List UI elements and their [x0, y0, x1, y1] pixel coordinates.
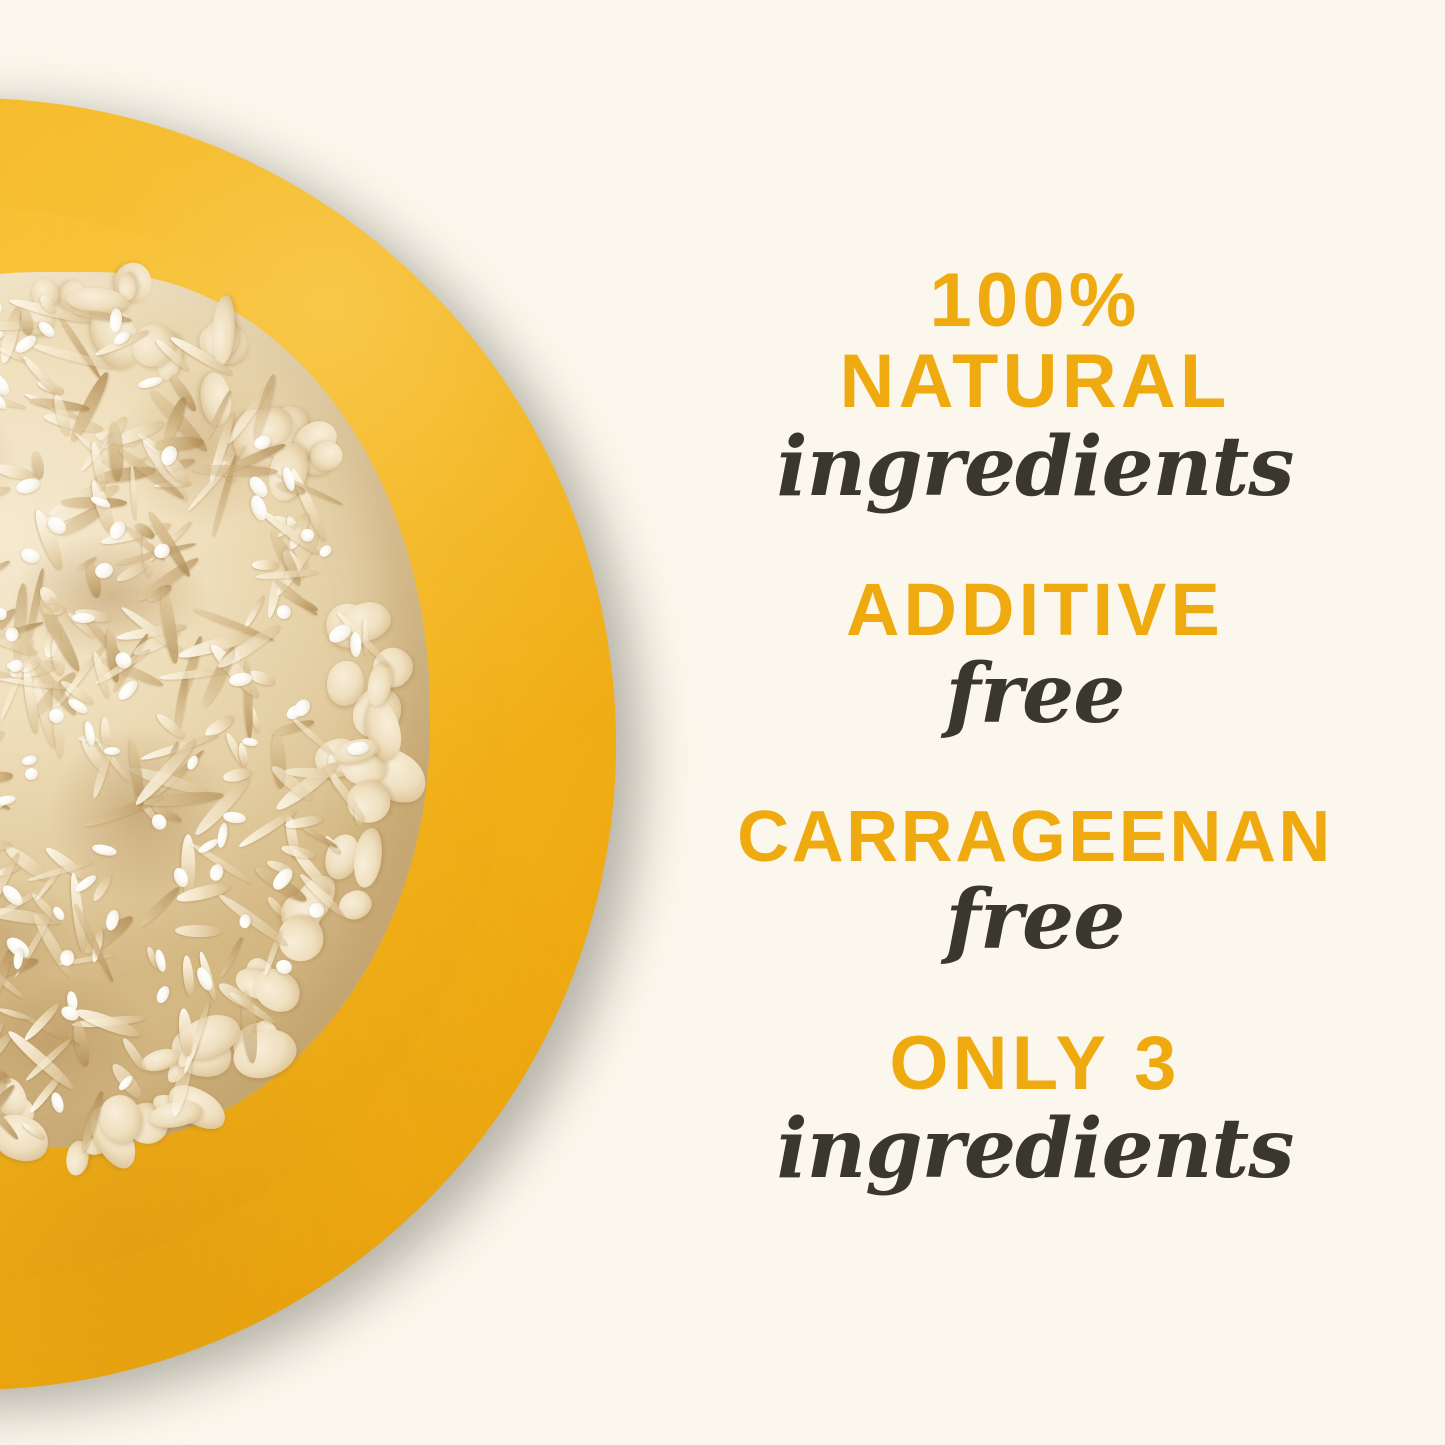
- claim-script: ingredients: [660, 425, 1410, 510]
- claim-carrageenan-free: CARRAGEENAN free: [660, 800, 1410, 963]
- claim-script: free: [660, 878, 1410, 963]
- claim-headline: 100% NATURAL: [660, 262, 1410, 421]
- shredded-chicken-and-rice: [0, 272, 430, 1148]
- claim-script: ingredients: [660, 1107, 1410, 1192]
- product-claims-banner: 100% NATURAL ingredients ADDITIVE free C…: [0, 0, 1445, 1445]
- claim-headline-line2: NATURAL: [660, 343, 1410, 421]
- claim-headline-line1: 100%: [929, 258, 1140, 343]
- claim-additive-free: ADDITIVE free: [660, 572, 1410, 737]
- claim-headline: ONLY 3: [660, 1025, 1410, 1103]
- claims-list: 100% NATURAL ingredients ADDITIVE free C…: [660, 0, 1410, 1445]
- rice-grains: [0, 272, 430, 1148]
- claim-natural-ingredients: 100% NATURAL ingredients: [660, 262, 1410, 510]
- claim-headline: ADDITIVE: [660, 572, 1410, 648]
- claim-script: free: [660, 652, 1410, 737]
- claim-headline: CARRAGEENAN: [660, 800, 1410, 874]
- claim-only-3-ingredients: ONLY 3 ingredients: [660, 1025, 1410, 1193]
